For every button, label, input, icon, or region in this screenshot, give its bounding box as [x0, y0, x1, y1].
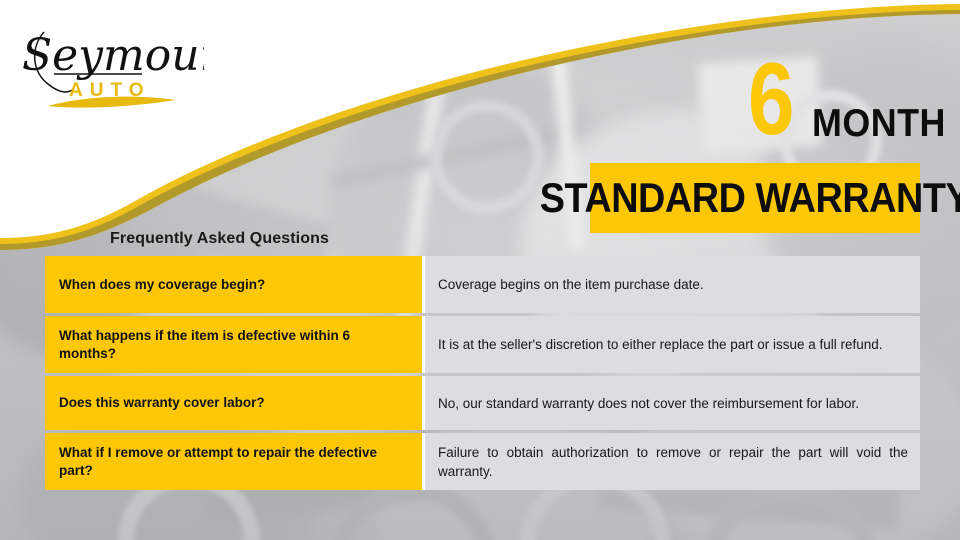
faq-answer-cell: It is at the seller's discretion to eith…: [422, 316, 920, 373]
table-row: Does this warranty cover labor? No, our …: [45, 376, 920, 430]
faq-answer-cell: No, our standard warranty does not cover…: [422, 376, 920, 430]
faq-question-text: When does my coverage begin?: [59, 276, 265, 294]
faq-question-text: What happens if the item is defective wi…: [59, 327, 408, 363]
standard-warranty-title: STANDARD WARRANTY: [607, 163, 904, 233]
table-row: When does my coverage begin? Coverage be…: [45, 256, 920, 313]
faq-table: When does my coverage begin? Coverage be…: [45, 256, 920, 490]
standard-warranty-banner: STANDARD WARRANTY: [590, 163, 920, 233]
faq-question-cell: When does my coverage begin?: [45, 256, 422, 313]
table-row: What if I remove or attempt to repair th…: [45, 433, 920, 490]
faq-answer-text: It is at the seller's discretion to eith…: [438, 335, 908, 354]
warranty-duration-unit: MONTH: [812, 104, 946, 143]
warranty-slide: Seymour AUTO 6 MONTH STANDARD WARRANTY F…: [0, 0, 960, 540]
faq-heading: Frequently Asked Questions: [110, 230, 329, 248]
faq-question-cell: Does this warranty cover labor?: [45, 376, 422, 430]
faq-answer-text: Coverage begins on the item purchase dat…: [438, 275, 908, 294]
faq-question-cell: What if I remove or attempt to repair th…: [45, 433, 422, 490]
table-row: What happens if the item is defective wi…: [45, 316, 920, 373]
faq-answer-cell: Failure to obtain authorization to remov…: [422, 433, 920, 490]
faq-question-text: Does this warranty cover labor?: [59, 394, 265, 412]
seymour-auto-logo: Seymour AUTO: [14, 14, 204, 109]
faq-answer-cell: Coverage begins on the item purchase dat…: [422, 256, 920, 313]
faq-answer-text: Failure to obtain authorization to remov…: [438, 443, 908, 481]
faq-question-text: What if I remove or attempt to repair th…: [59, 444, 408, 480]
warranty-duration-number: 6: [748, 48, 793, 150]
faq-answer-text: No, our standard warranty does not cover…: [438, 394, 908, 413]
faq-question-cell: What happens if the item is defective wi…: [45, 316, 422, 373]
